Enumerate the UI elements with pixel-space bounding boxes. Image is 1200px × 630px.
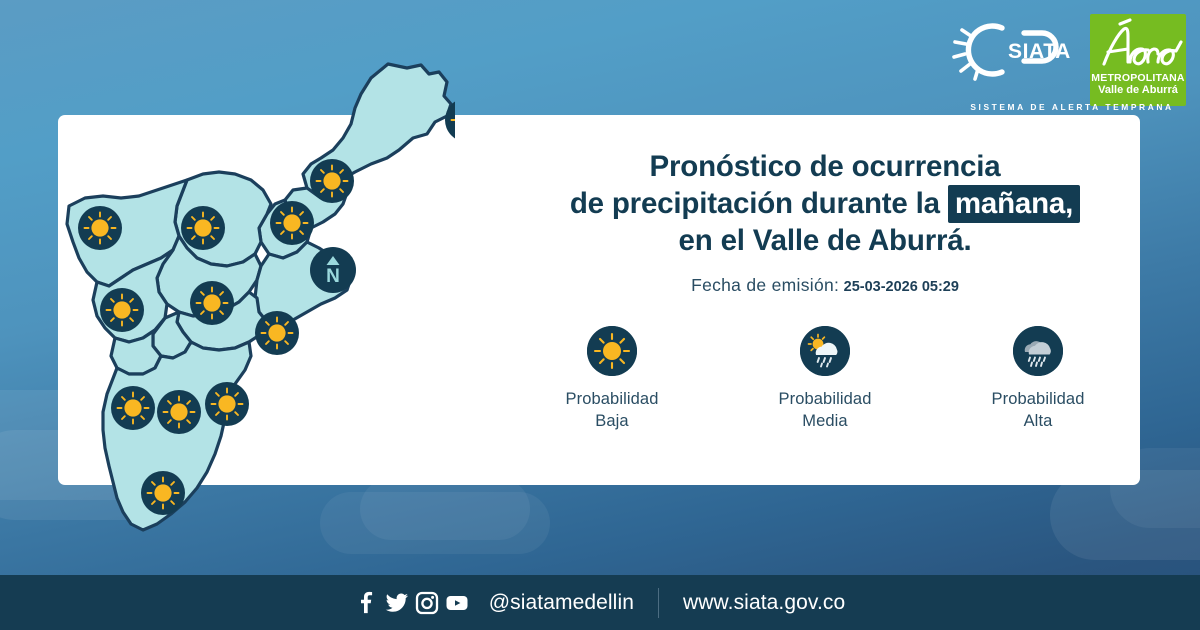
map-marker-envigado[interactable] — [255, 311, 299, 355]
headline-line-3: en el Valle de Aburrá. — [505, 222, 1145, 259]
legend-item-alta[interactable]: Probabilidad Alta — [945, 326, 1131, 432]
legend-label-baja: Probabilidad Baja — [519, 388, 705, 432]
probability-legend: Probabilidad Baja — [519, 326, 1131, 432]
legend-item-media[interactable]: Probabilidad Media — [732, 326, 918, 432]
legend-alta-line2: Alta — [945, 410, 1131, 432]
legend-media-line2: Media — [732, 410, 918, 432]
website-url[interactable]: www.siata.gov.co — [683, 591, 845, 615]
valle-de-aburra-map: N — [55, 38, 455, 583]
facebook-icon[interactable] — [355, 591, 379, 615]
area-script-mark — [1090, 18, 1186, 74]
legend-label-media: Probabilidad Media — [732, 388, 918, 432]
legend-baja-line2: Baja — [519, 410, 705, 432]
issue-date-value: 25-03-2026 05:29 — [844, 279, 959, 295]
compass-rose: N — [310, 247, 356, 293]
map-marker-san-pedro[interactable] — [78, 206, 122, 250]
map-marker-medellin-c[interactable] — [100, 288, 144, 332]
social-handle[interactable]: @siatamedellin — [489, 591, 634, 615]
legend-baja-line1: Probabilidad — [519, 388, 705, 410]
siata-logo: SIATA — [950, 16, 1090, 84]
map-marker-girardota[interactable] — [310, 159, 354, 203]
map-marker-bello[interactable] — [181, 206, 225, 250]
area-logo-line2: Valle de Aburrá — [1090, 84, 1186, 96]
headline-line-1: Pronóstico de ocurrencia — [505, 148, 1145, 185]
forecast-panel: Pronóstico de ocurrencia de precipitació… — [505, 148, 1145, 458]
map-marker-la-estrella[interactable] — [111, 386, 155, 430]
footer-divider — [658, 588, 659, 618]
brand-logos: SIATA METROPOLITANA Valle de Aburrá SIST… — [950, 12, 1186, 112]
legend-alta-line1: Probabilidad — [945, 388, 1131, 410]
sun-rain-icon — [800, 326, 850, 376]
compass-label: N — [326, 266, 340, 287]
sun-icon — [587, 326, 637, 376]
headline-line-2-text: de precipitación durante la — [570, 187, 940, 220]
map-marker-medellin-n[interactable] — [190, 281, 234, 325]
map-marker-copacabana[interactable] — [270, 201, 314, 245]
svg-text:SIATA: SIATA — [1008, 40, 1071, 63]
footer-bar: @siatamedellin www.siata.gov.co — [0, 575, 1200, 630]
map-marker-itagui[interactable] — [205, 382, 249, 426]
twitter-icon[interactable] — [385, 591, 409, 615]
headline-line-2: de precipitación durante la mañana, — [505, 185, 1145, 222]
youtube-icon[interactable] — [445, 591, 469, 615]
area-metropolitana-logo: METROPOLITANA Valle de Aburrá — [1090, 14, 1186, 106]
instagram-icon[interactable] — [415, 591, 439, 615]
headline-highlight: mañana, — [948, 185, 1080, 223]
legend-media-line1: Probabilidad — [732, 388, 918, 410]
issue-date-row: Fecha de emisión: 25-03-2026 05:29 — [505, 275, 1145, 296]
area-logo-line1: METROPOLITANA — [1090, 72, 1186, 84]
legend-item-baja[interactable]: Probabilidad Baja — [519, 326, 705, 432]
map-marker-caldas[interactable] — [141, 471, 185, 515]
rain-cloud-icon — [1013, 326, 1063, 376]
issue-date-label: Fecha de emisión: — [691, 275, 839, 295]
map-marker-sabaneta[interactable] — [157, 390, 201, 434]
siata-tagline: SISTEMA DE ALERTA TEMPRANA — [958, 102, 1186, 112]
legend-label-alta: Probabilidad Alta — [945, 388, 1131, 432]
